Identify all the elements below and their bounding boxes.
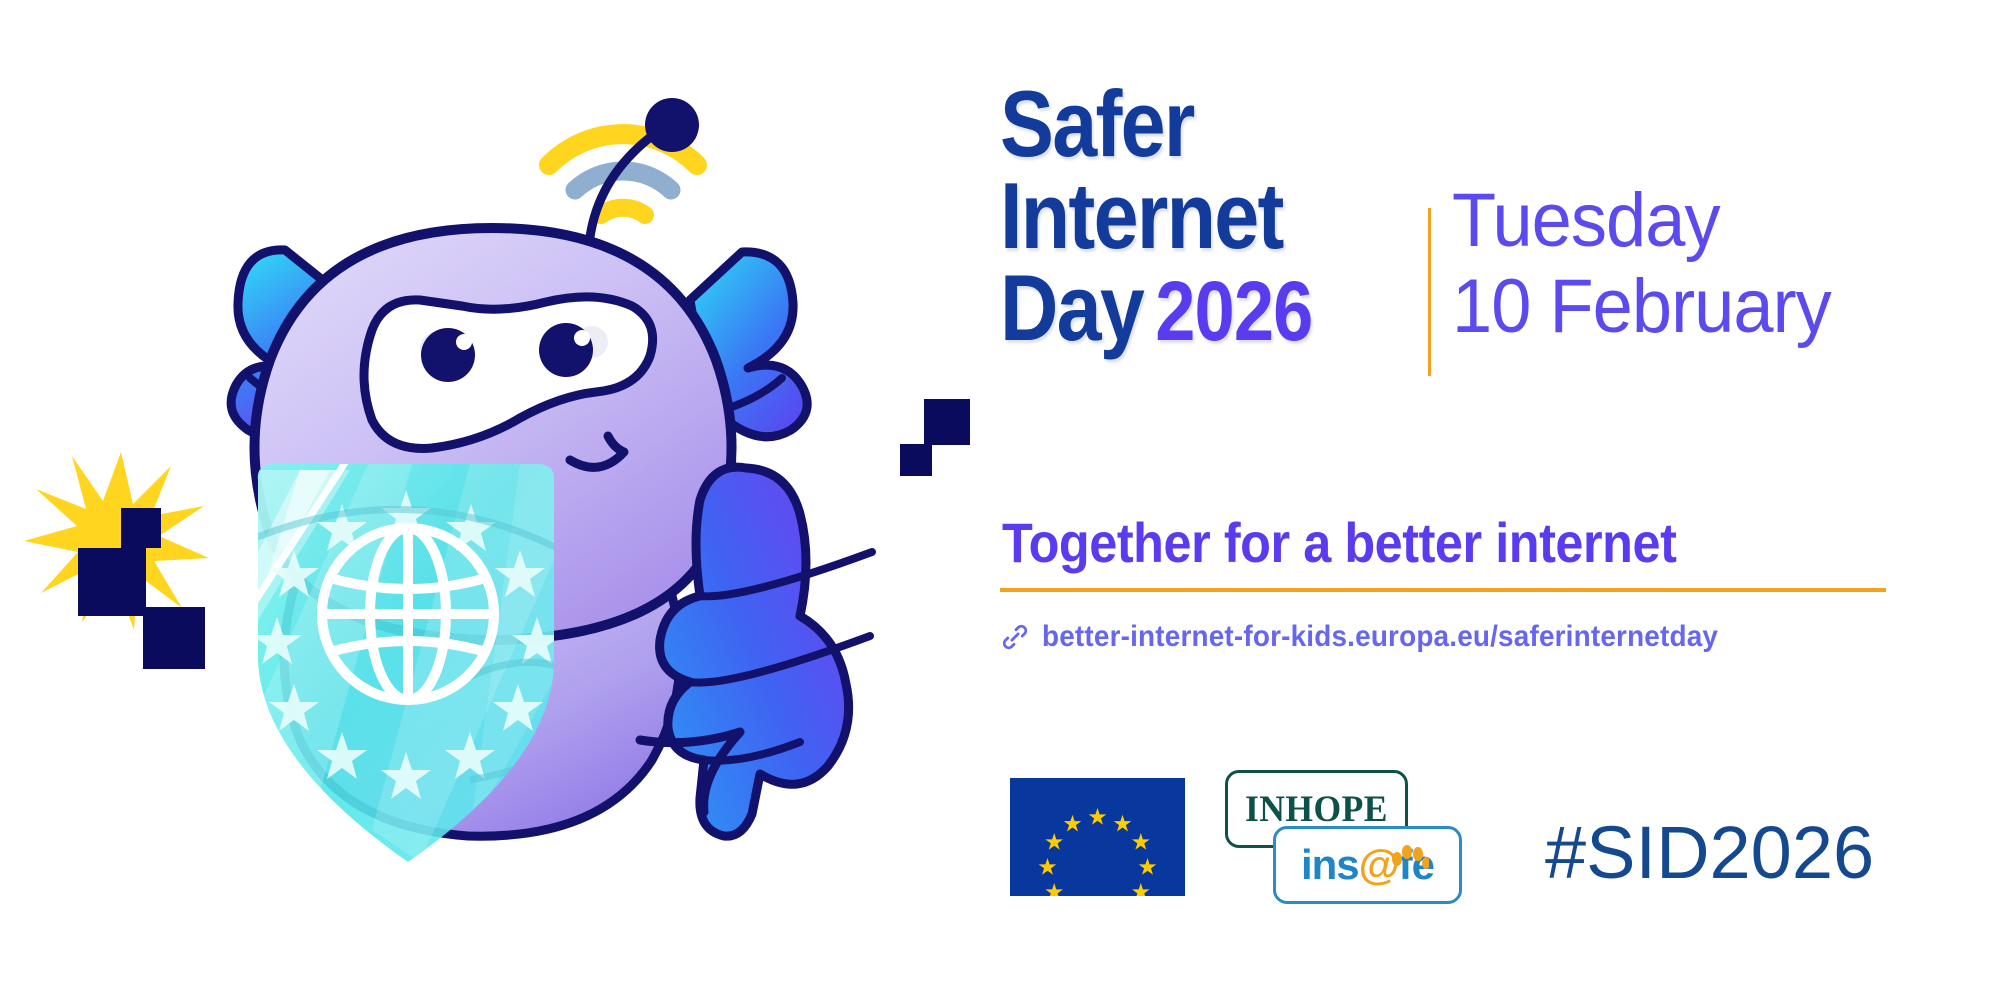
decor-square: [121, 508, 161, 548]
campaign-date: Tuesday 10 February: [1452, 178, 1831, 350]
campaign-url[interactable]: better-internet-for-kids.europa.eu/safer…: [1042, 620, 1718, 654]
decor-square: [143, 607, 205, 669]
campaign-url-row[interactable]: better-internet-for-kids.europa.eu/safer…: [1000, 620, 1769, 654]
decor-square: [78, 548, 146, 616]
decor-square: [924, 399, 970, 445]
paw-icon: [1389, 833, 1429, 859]
eu-flag: [1010, 778, 1185, 896]
link-icon: [1000, 622, 1030, 652]
title-line-1: Safer: [1000, 78, 1860, 170]
campaign-hashtag: #SID2026: [1545, 810, 1874, 895]
poster-text-panel: Safer Internet Day 2026 Tuesday 10 Febru…: [1000, 0, 2000, 1000]
tagline-underline: [1000, 588, 1886, 592]
antenna-ball: [645, 98, 699, 152]
mascot-artwork: [0, 0, 980, 1000]
insafe-prefix: ins: [1301, 841, 1359, 889]
campaign-year: 2026: [1155, 265, 1312, 357]
date-line-1: Tuesday: [1452, 178, 1831, 264]
title-date-divider: [1428, 208, 1431, 376]
insafe-label: ins @ fe: [1301, 841, 1434, 889]
campaign-tagline: Together for a better internet: [1002, 512, 1676, 574]
title-word-day: Day: [1000, 262, 1143, 354]
globe-icon: [322, 528, 494, 700]
date-line-2: 10 February: [1452, 264, 1831, 350]
safer-internet-day-poster: Safer Internet Day 2026 Tuesday 10 Febru…: [0, 0, 2000, 1000]
inhope-label: INHOPE: [1245, 788, 1388, 831]
decor-square: [900, 444, 932, 476]
insafe-logo: ins @ fe: [1273, 826, 1462, 904]
